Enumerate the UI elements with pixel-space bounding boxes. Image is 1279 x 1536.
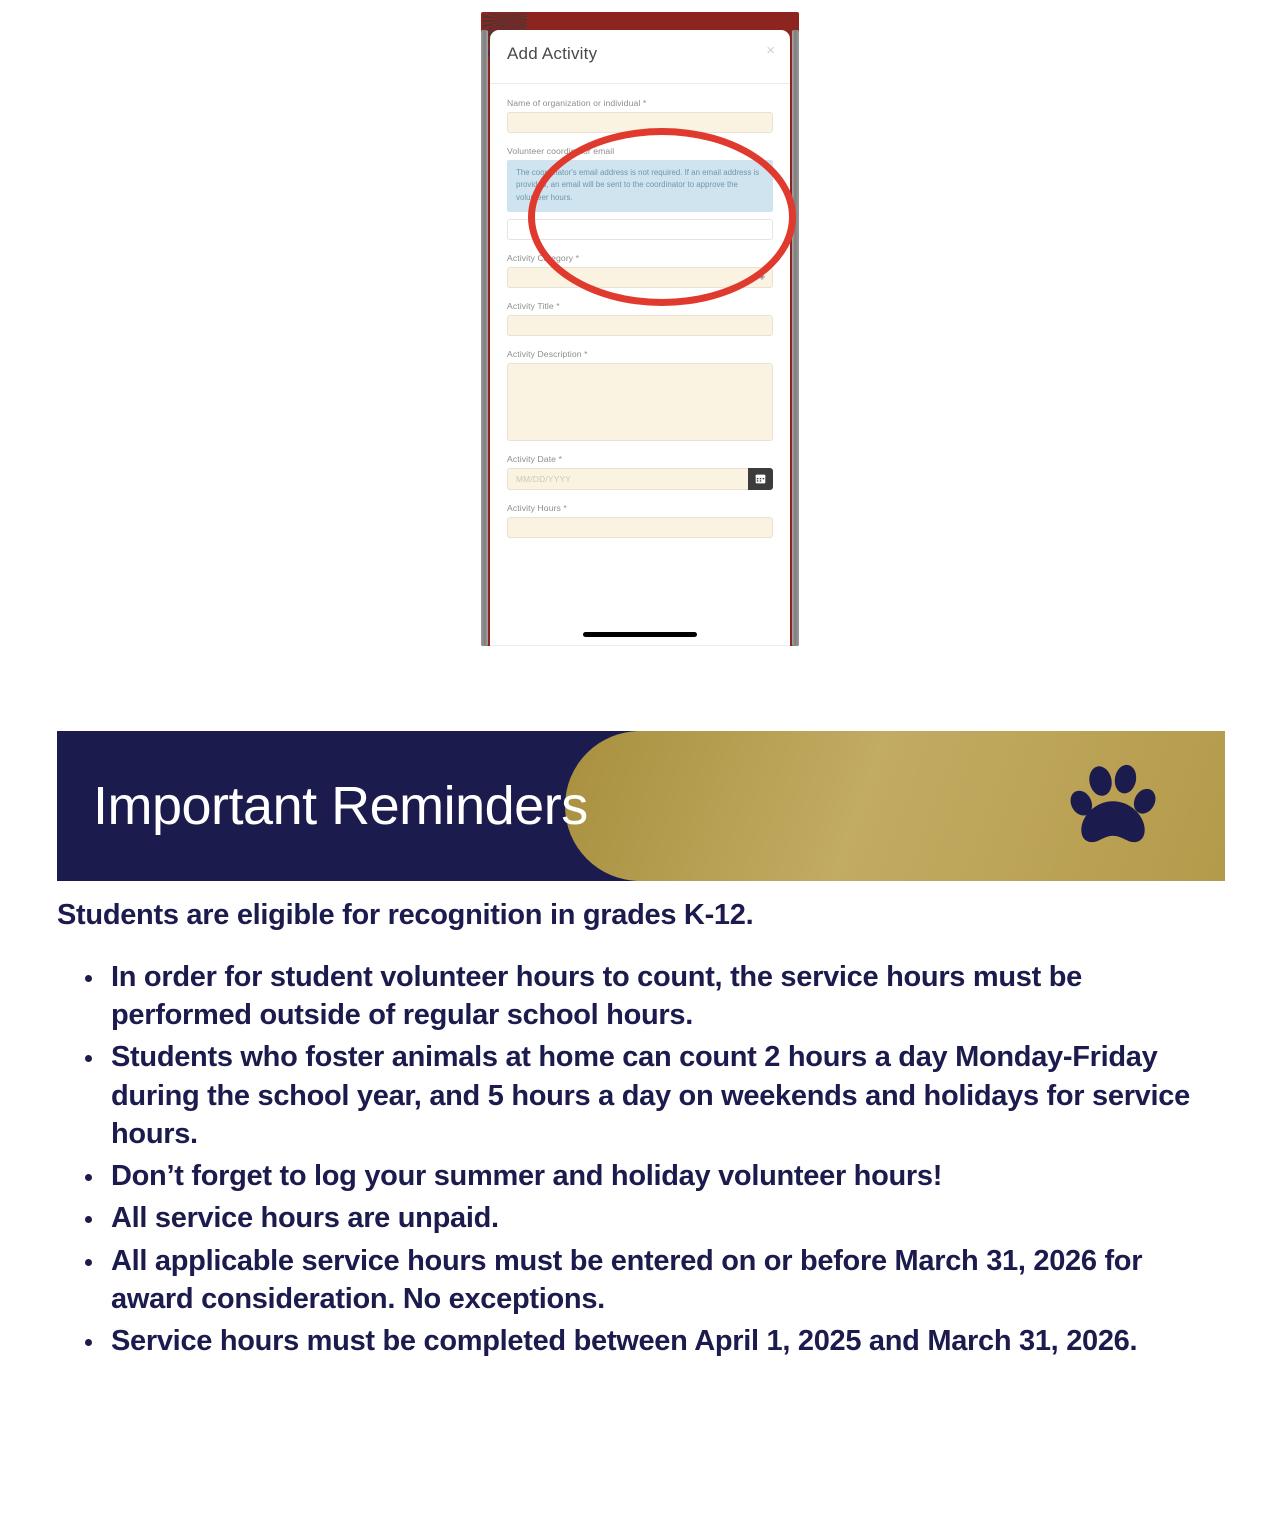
app-screenshot-mockup: Add Activity × Name of organization or i… <box>481 12 799 646</box>
activity-hours-input[interactable] <box>507 517 773 538</box>
close-icon[interactable]: × <box>766 43 775 58</box>
modal-title: Add Activity <box>507 44 597 64</box>
modal-header: Add Activity × <box>490 30 790 84</box>
tooltip-text: The coordinator's email address is not r… <box>516 167 764 204</box>
paw-print-icon <box>1065 758 1161 854</box>
list-item: Service hours must be completed between … <box>111 1322 1227 1360</box>
organization-name-label: Name of organization or individual * <box>507 98 773 108</box>
device-frame-right-edge <box>792 30 799 646</box>
organization-name-input[interactable] <box>507 112 773 133</box>
activity-date-row: MM/DD/YYYY <box>507 468 773 490</box>
add-activity-modal: Add Activity × Name of organization or i… <box>490 30 790 646</box>
list-item: All applicable service hours must be ent… <box>111 1242 1227 1319</box>
screenshot-bottom-edge <box>490 645 790 646</box>
coordinator-email-tooltip: The coordinator's email address is not r… <box>507 160 773 212</box>
activity-title-input[interactable] <box>507 315 773 336</box>
activity-hours-label: Activity Hours * <box>507 503 773 513</box>
modal-body: Name of organization or individual * Vol… <box>490 84 790 538</box>
activity-category-select[interactable]: ◈ <box>507 267 773 288</box>
device-frame-left-edge <box>481 30 488 646</box>
activity-date-input[interactable]: MM/DD/YYYY <box>507 468 748 490</box>
home-indicator <box>583 632 697 637</box>
coordinator-email-label: Volunteer coordinator email <box>507 146 773 156</box>
activity-category-label: Activity Category * <box>507 253 773 263</box>
calendar-icon <box>755 473 766 484</box>
reminders-list: In order for student volunteer hours to … <box>57 958 1227 1361</box>
reminders-content: Students are eligible for recognition in… <box>57 900 1227 1365</box>
reminders-lede: Students are eligible for recognition in… <box>57 900 1227 932</box>
list-item: In order for student volunteer hours to … <box>111 958 1227 1035</box>
important-reminders-banner: Important Reminders <box>57 731 1225 881</box>
list-item: All service hours are unpaid. <box>111 1199 1227 1237</box>
list-item: Don’t forget to log your summer and holi… <box>111 1157 1227 1195</box>
activity-description-textarea[interactable] <box>507 363 773 441</box>
activity-date-placeholder: MM/DD/YYYY <box>516 474 571 484</box>
activity-date-label: Activity Date * <box>507 454 773 464</box>
list-item: Students who foster animals at home can … <box>111 1038 1227 1153</box>
activity-title-label: Activity Title * <box>507 301 773 311</box>
banner-title: Important Reminders <box>93 775 588 837</box>
calendar-picker-button[interactable] <box>748 468 773 490</box>
chevron-updown-icon: ◈ <box>759 273 765 281</box>
activity-description-label: Activity Description * <box>507 349 773 359</box>
coordinator-email-input[interactable] <box>507 219 773 240</box>
